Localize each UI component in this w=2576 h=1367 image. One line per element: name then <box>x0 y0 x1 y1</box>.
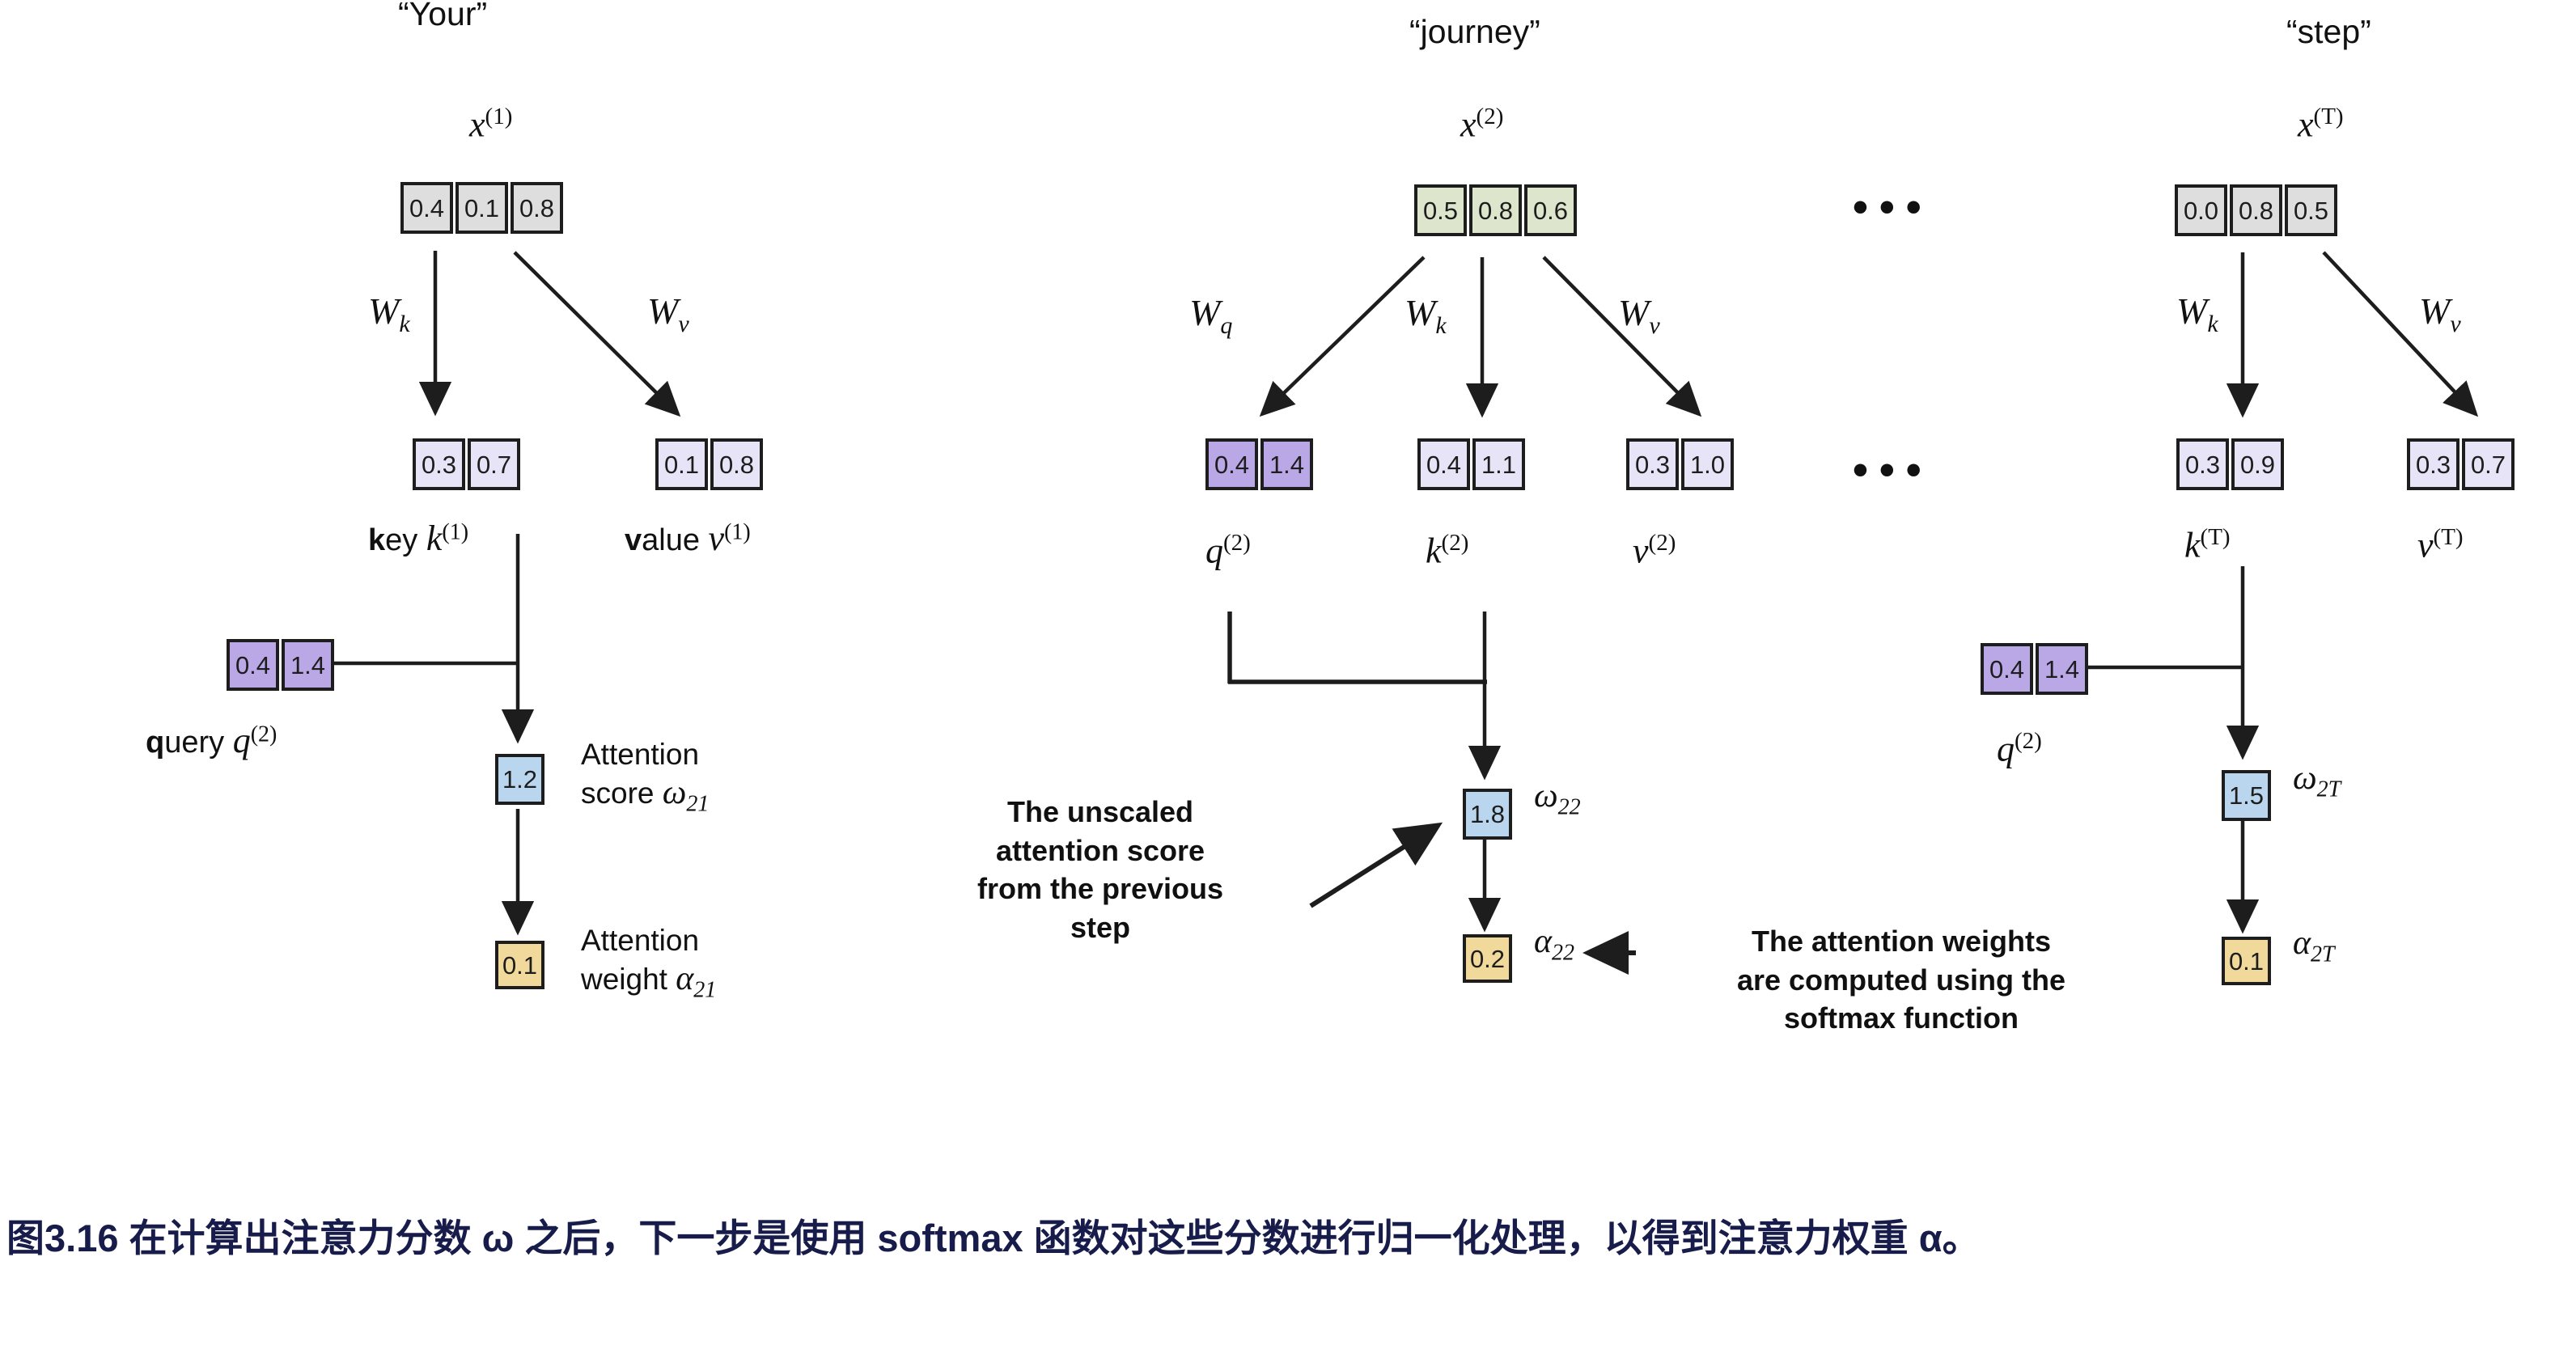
cell-k2-1: 1.1 <box>1472 438 1525 490</box>
cell-x3-0: 0.0 <box>2175 184 2227 236</box>
cell-x2-1: 0.8 <box>1469 184 1522 236</box>
cell-x2-0: 0.5 <box>1414 184 1467 236</box>
score-box-3: 1.5 <box>2222 770 2271 821</box>
weight-box-1: 0.1 <box>495 941 544 989</box>
cell-x1-0: 0.4 <box>400 182 453 234</box>
cell-v3-1: 0.7 <box>2462 438 2515 490</box>
cell-score-3: 1.5 <box>2222 770 2271 821</box>
query-label-3: q(2) <box>1997 728 2042 770</box>
cell-weight-2: 0.2 <box>1463 934 1512 983</box>
omega-22-label: ω22 <box>1534 777 1581 820</box>
score-desc-line2-1: score <box>581 777 654 810</box>
weight-label-wv-3: Wv <box>2419 290 2461 338</box>
weight-label-wq-2: Wq <box>1189 291 1232 340</box>
cell-k1-1: 0.7 <box>468 438 520 490</box>
alpha-22-label: α22 <box>1534 922 1574 966</box>
cell-weight-3: 0.1 <box>2222 937 2271 985</box>
input-vector-row-3: 0.0 0.8 0.5 <box>2175 184 2337 236</box>
cell-v1-1: 0.8 <box>710 438 763 490</box>
value-vector-row-2: 0.3 1.0 <box>1626 438 1734 490</box>
cell-k3-1: 0.9 <box>2231 438 2284 490</box>
weight-box-3: 0.1 <box>2222 937 2271 985</box>
weight-desc-1: Attention weight α21 <box>581 922 716 1005</box>
key-label-2: k(2) <box>1426 530 1468 572</box>
cell-v2-1: 1.0 <box>1681 438 1734 490</box>
cell-q3-0: 0.4 <box>1981 643 2033 695</box>
alpha-2T-label: α2T <box>2293 924 2335 967</box>
input-vector-row-1: 0.4 0.1 0.8 <box>400 182 563 234</box>
score-desc-1: Attention score ω21 <box>581 736 709 819</box>
omega-21-symbol: ω21 <box>663 774 710 811</box>
weight-label-wk-1: Wk <box>368 290 410 338</box>
figure-caption: 图3.16 在计算出注意力分数 ω 之后，下一步是使用 softmax 函数对这… <box>6 1212 2563 1266</box>
token-label-1: “Your” <box>398 0 487 33</box>
cell-x2-2: 0.6 <box>1524 184 1577 236</box>
alpha-21-symbol: α21 <box>676 960 716 997</box>
input-vector-label-1: x(1) <box>469 104 512 146</box>
cell-x1-2: 0.8 <box>511 182 563 234</box>
score-desc-line1-1: Attention <box>581 738 699 771</box>
value-label-1: value v(1) <box>625 518 751 559</box>
cell-x1-1: 0.1 <box>455 182 508 234</box>
value-label-2: v(2) <box>1633 530 1676 572</box>
cell-v2-0: 0.3 <box>1626 438 1679 490</box>
annotation-softmax: The attention weights are computed using… <box>1667 922 2136 1038</box>
weight-desc-line1-1: Attention <box>581 924 699 957</box>
annotation-unscaled-score: The unscaled attention score from the pr… <box>930 793 1270 946</box>
omega-2T-label: ω2T <box>2293 759 2341 802</box>
cell-x3-1: 0.8 <box>2230 184 2282 236</box>
value-label-3: v(T) <box>2417 524 2464 566</box>
key-vector-row-3: 0.3 0.9 <box>2176 438 2284 490</box>
weight-label-wk-2: Wk <box>1405 291 1447 340</box>
cell-weight-1: 0.1 <box>495 941 544 989</box>
query-vector-row-3: 0.4 1.4 <box>1981 643 2088 695</box>
cell-q1-0: 0.4 <box>227 639 279 691</box>
value-vector-row-3: 0.3 0.7 <box>2407 438 2515 490</box>
cell-score-2: 1.8 <box>1463 789 1512 840</box>
token-label-2: “journey” <box>1409 13 1540 51</box>
key-label-3: k(T) <box>2184 524 2231 566</box>
query-label-1: query q(2) <box>146 720 277 761</box>
cell-v3-0: 0.3 <box>2407 438 2459 490</box>
key-vector-row-2: 0.4 1.1 <box>1417 438 1525 490</box>
weight-desc-line2-1: weight <box>581 963 667 996</box>
key-vector-row-1: 0.3 0.7 <box>413 438 520 490</box>
cell-k3-0: 0.3 <box>2176 438 2229 490</box>
weight-label-wk-3: Wk <box>2176 290 2218 338</box>
cell-q3-1: 1.4 <box>2036 643 2088 695</box>
query-vector-row-2: 0.4 1.4 <box>1205 438 1313 490</box>
query-vector-row-1: 0.4 1.4 <box>227 639 334 691</box>
input-vector-label-2: x(2) <box>1460 104 1503 146</box>
key-label-1: key k(1) <box>368 518 468 559</box>
value-vector-row-1: 0.1 0.8 <box>655 438 763 490</box>
cell-score-1: 1.2 <box>495 754 544 805</box>
input-vector-label-3: x(T) <box>2298 104 2344 146</box>
figure-canvas: “Your” x(1) 0.4 0.1 0.8 Wk Wv 0.3 0.7 0.… <box>0 0 2576 1367</box>
cell-k2-0: 0.4 <box>1417 438 1470 490</box>
score-box-1: 1.2 <box>495 754 544 805</box>
cell-q1-1: 1.4 <box>282 639 334 691</box>
cell-x3-2: 0.5 <box>2285 184 2337 236</box>
cell-q2-0: 0.4 <box>1205 438 1258 490</box>
weight-label-wv-2: Wv <box>1618 291 1660 340</box>
cell-k1-0: 0.3 <box>413 438 465 490</box>
ellipsis-middle: ••• <box>1853 445 1933 495</box>
ellipsis-top: ••• <box>1853 182 1933 232</box>
token-label-3: “step” <box>2286 13 2371 51</box>
weight-label-wv-1: Wv <box>647 290 689 338</box>
score-box-2: 1.8 <box>1463 789 1512 840</box>
input-vector-row-2: 0.5 0.8 0.6 <box>1414 184 1577 236</box>
weight-box-2: 0.2 <box>1463 934 1512 983</box>
cell-q2-1: 1.4 <box>1260 438 1313 490</box>
query-label-2: q(2) <box>1205 530 1251 572</box>
cell-v1-0: 0.1 <box>655 438 708 490</box>
